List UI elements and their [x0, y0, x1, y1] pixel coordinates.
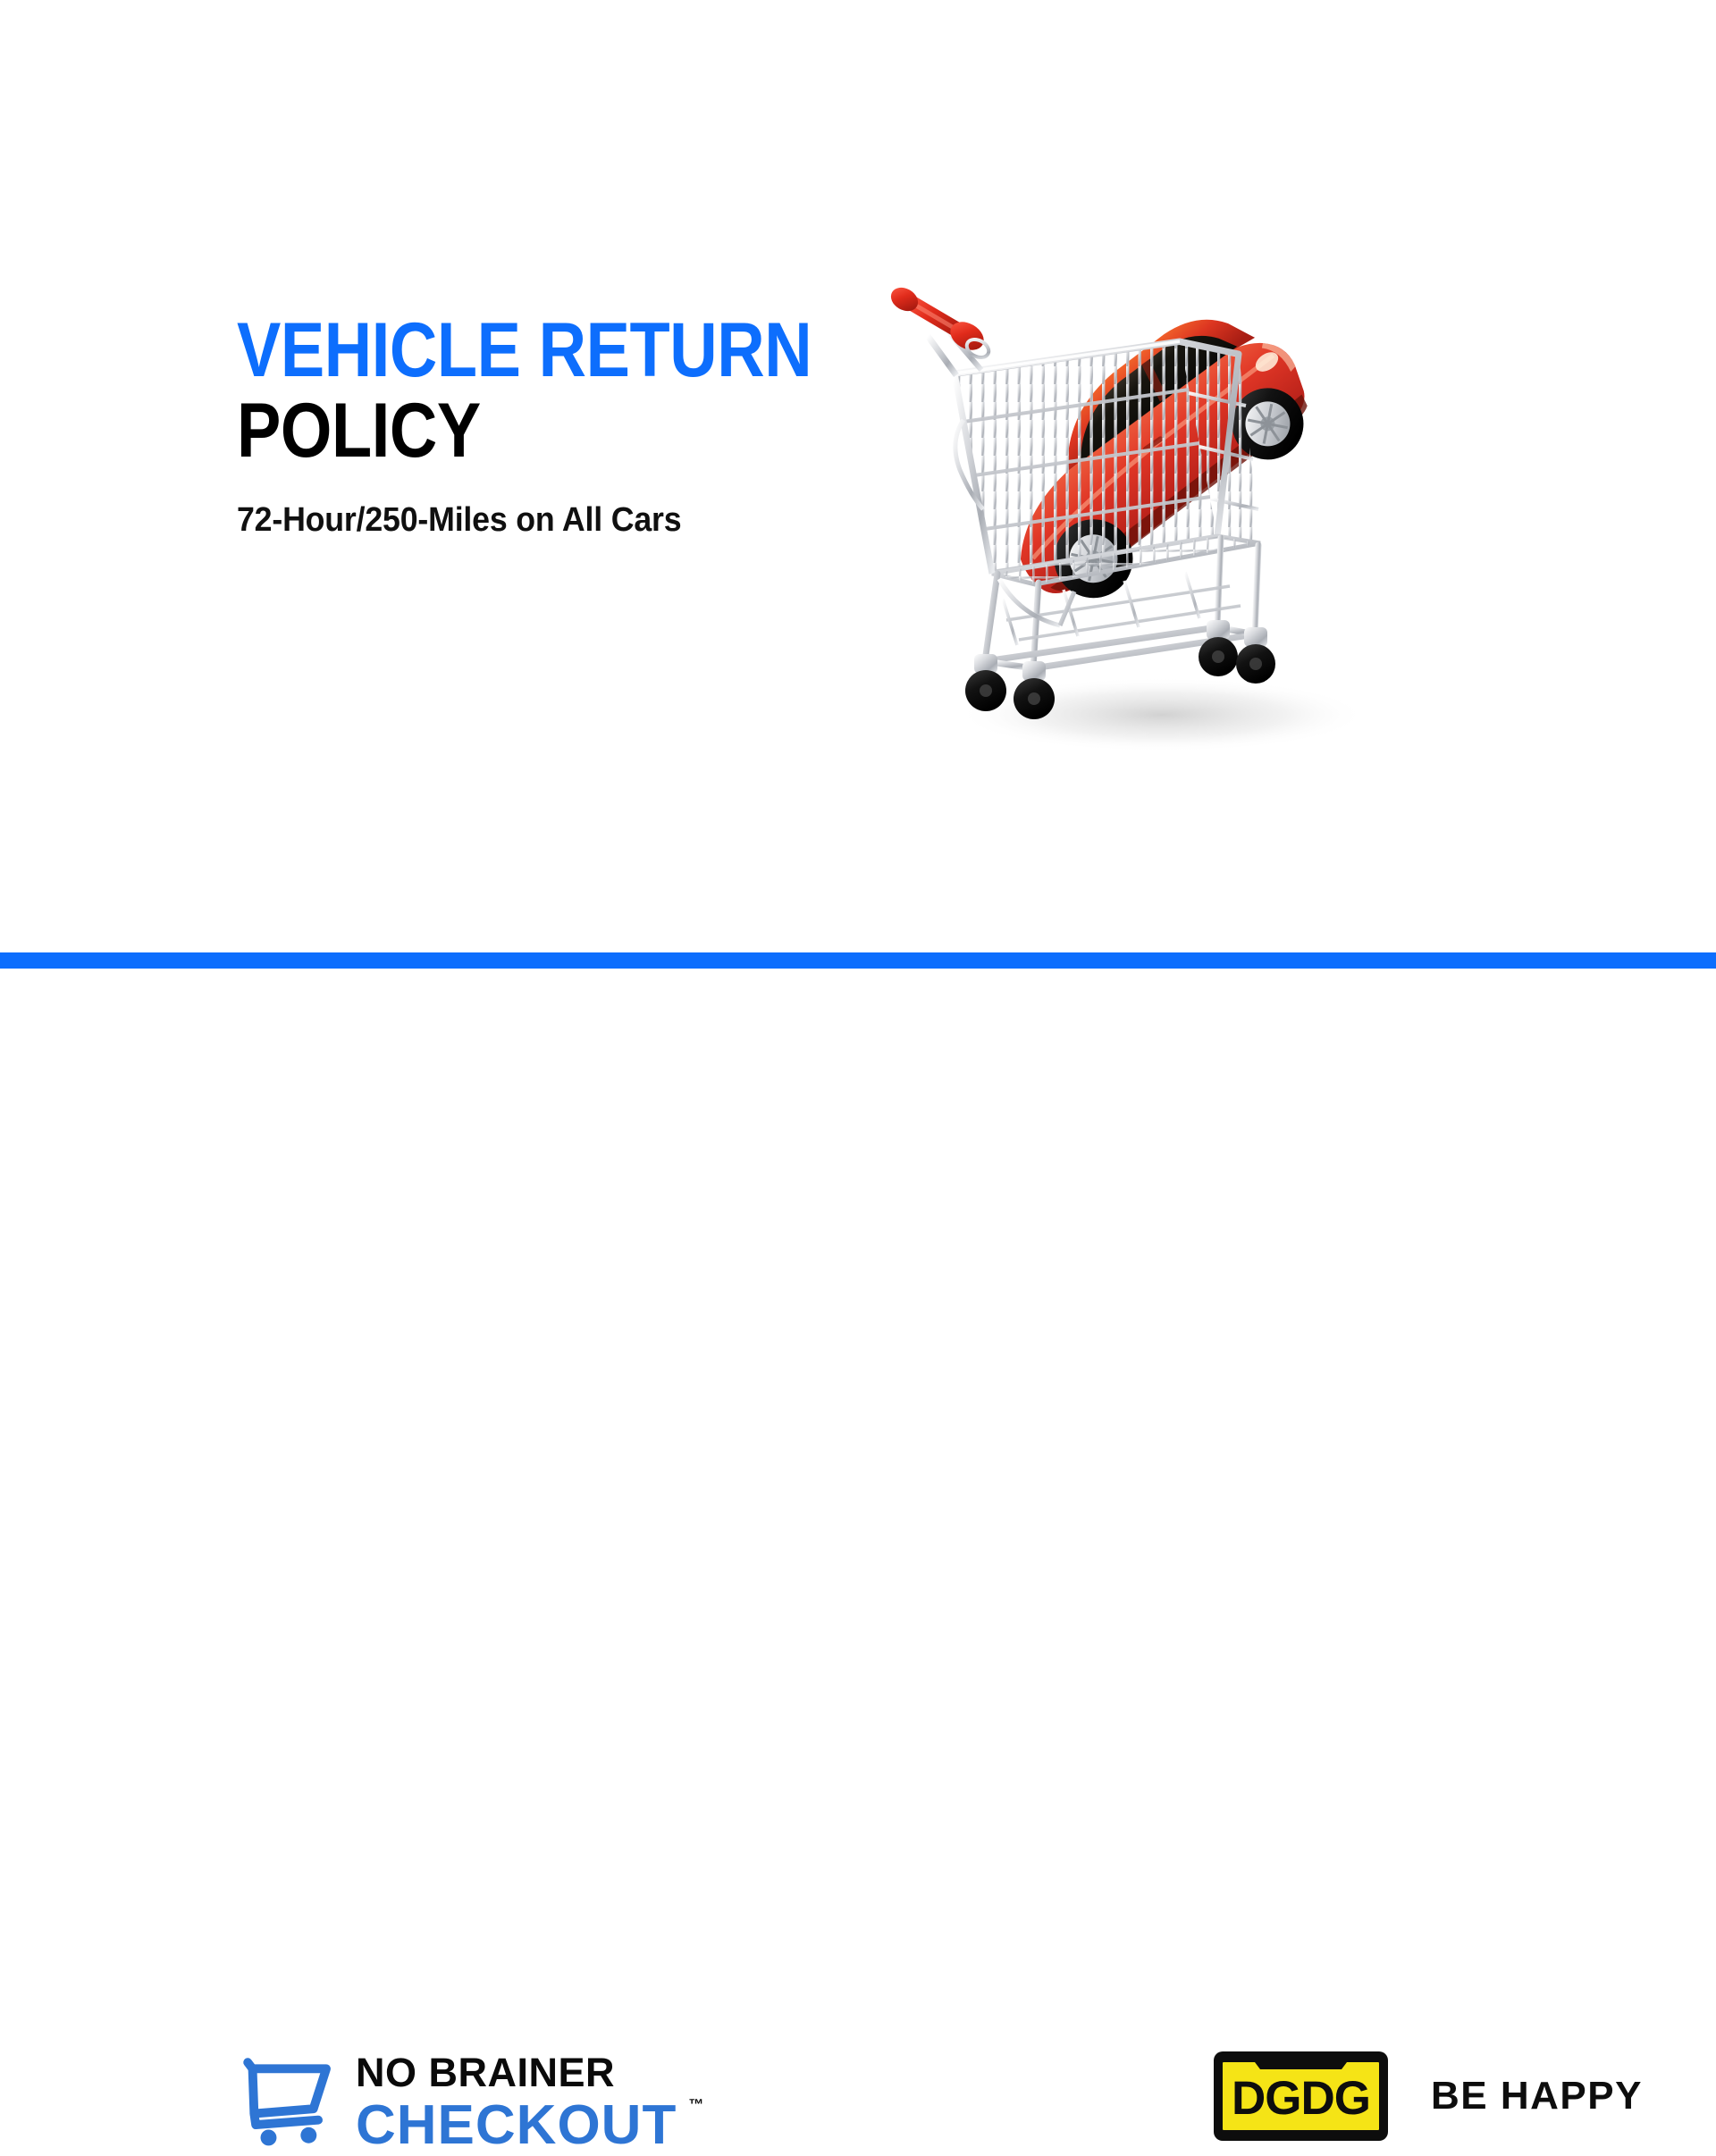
logo-line-checkout: CHECKOUT	[356, 2098, 677, 2153]
headline-line-2: POLICY	[237, 395, 775, 468]
no-brainer-checkout-wordmark: NO BRAINER CHECKOUT ™	[356, 2052, 677, 2153]
subtitle: 72-Hour/250-Miles on All Cars	[237, 501, 825, 540]
cart-handle	[887, 283, 992, 375]
headline-block: VEHICLE RETURN POLICY 72-Hour/250-Miles …	[237, 315, 862, 540]
shopping-cart-graphic	[887, 283, 1278, 719]
dgdg-badge-icon: DGDG	[1214, 2051, 1388, 2141]
trademark-symbol: ™	[688, 2096, 703, 2114]
dgdg-logo[interactable]: DGDG BE HAPPY	[1214, 2051, 1643, 2141]
no-brainer-checkout-logo[interactable]: NO BRAINER CHECKOUT ™	[240, 2052, 677, 2153]
footer: NO BRAINER CHECKOUT ™ DGDG BE HAPPY	[0, 969, 1716, 1287]
blue-divider-bar	[0, 952, 1716, 969]
dgdg-tagline: BE HAPPY	[1431, 2074, 1643, 2118]
headline-line-1: VEHICLE RETURN	[237, 315, 775, 388]
shopping-cart-icon	[240, 2056, 336, 2149]
logo-line-no-brainer: NO BRAINER	[356, 2052, 677, 2093]
shopping-cart-with-car-image	[885, 241, 1439, 777]
